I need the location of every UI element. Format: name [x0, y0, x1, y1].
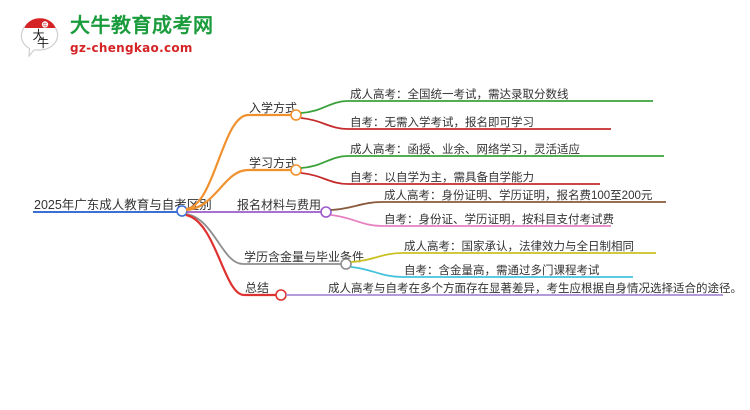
leaf-4-1-label: 成人高考：国家承认，法律效力与全日制相同: [404, 239, 634, 253]
branch-3-label: 报名材料与费用: [237, 197, 321, 212]
leaf-2-2-label: 自考：以自学为主，需具备自学能力: [350, 170, 534, 184]
branch-1-label: 入学方式: [249, 100, 297, 115]
leaf-4-1-connector: [351, 253, 656, 262]
branch-3-node-dot[interactable]: [321, 207, 331, 217]
branch-5-node-dot[interactable]: [276, 290, 286, 300]
leaf-1-1-label: 成人高考：全国统一考试，需达录取分数线: [350, 87, 569, 101]
leaf-3-1-label: 成人高考：身份证明、学历证明，报名费100至200元: [384, 188, 653, 202]
leaf-2-1-label: 成人高考：函授、业余、网络学习，灵活适应: [350, 142, 580, 156]
branch-5-label: 总结: [245, 281, 269, 295]
leaf-3-1-connector: [331, 202, 666, 210]
branch-2-label: 学习方式: [249, 155, 297, 170]
branch-4-node-dot[interactable]: [341, 259, 351, 269]
root-node-dot[interactable]: [177, 206, 187, 216]
leaf-1-2-label: 自考：无需入学考试，报名即可学习: [350, 115, 534, 129]
leaf-5-1-label: 成人高考与自考在多个方面存在显著差异，考生应根据自身情况选择适合的途径。: [328, 281, 742, 295]
mindmap-branch-baomingcailiao[interactable]: 报名材料与费用 成人高考：身份证明、学历证明，报名费100至200元 自考：身份…: [187, 188, 666, 226]
leaf-2-1-connector: [301, 156, 664, 168]
branch-1-node-dot[interactable]: [291, 110, 301, 120]
branch-2-node-dot[interactable]: [291, 165, 301, 175]
leaf-1-1-connector: [301, 101, 653, 113]
mindmap-root-node[interactable]: 2025年广东成人教育与自考区别: [33, 197, 212, 216]
leaf-3-2-label: 自考：身份证、学历证明，按科目支付考试费: [384, 212, 614, 226]
leaf-4-2-label: 自考：含金量高，需通过多门课程考试: [404, 263, 600, 277]
mindmap-diagram: 2025年广东成人教育与自考区别 入学方式 成人高考：全国统一考试，需达录取分数…: [0, 0, 750, 410]
